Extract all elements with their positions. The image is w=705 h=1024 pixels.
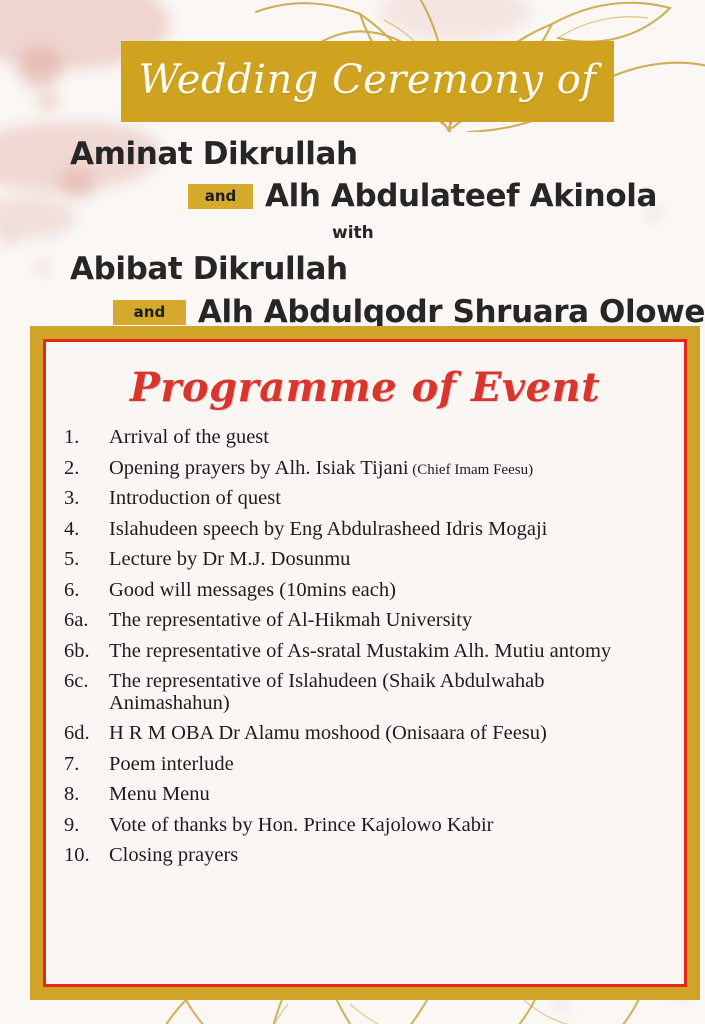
programme-title: Programme of Event: [64, 364, 666, 411]
bride-name-1: Aminat Dikrullah: [0, 134, 705, 174]
programme-item-number: 6d.: [64, 723, 109, 745]
programme-item-text: Arrival of the guest: [109, 427, 666, 449]
programme-item: 9.Vote of thanks by Hon. Prince Kajolowo…: [64, 815, 666, 837]
programme-item: 3.Introduction of quest: [64, 488, 666, 510]
banner-title: Wedding Ceremony of: [121, 41, 614, 122]
programme-item-number: 2.: [64, 458, 109, 480]
programme-item-text: Menu Menu: [109, 784, 666, 806]
couples-block: Aminat Dikrullah and Alh Abdulateef Akin…: [0, 134, 705, 334]
programme-item-text: The representative of Al-Hikmah Universi…: [109, 610, 666, 632]
programme-item-text: The representative of As-sratal Mustakim…: [109, 641, 666, 663]
programme-item-number: 9.: [64, 815, 109, 837]
programme-card: Programme of Event 1.Arrival of the gues…: [30, 326, 700, 1000]
programme-item-number: 4.: [64, 519, 109, 541]
programme-item: 4.Islahudeen speech by Eng Abdulrasheed …: [64, 519, 666, 541]
programme-item-number: 6.: [64, 580, 109, 602]
programme-item-number: 8.: [64, 784, 109, 806]
programme-item-text: Islahudeen speech by Eng Abdulrasheed Id…: [109, 519, 666, 541]
programme-item: 6c.The representative of Islahudeen (Sha…: [64, 671, 666, 714]
watercolor-blob: [556, 1000, 567, 1010]
programme-item: 6d.H R M OBA Dr Alamu moshood (Onisaara …: [64, 723, 666, 745]
programme-item-text: Vote of thanks by Hon. Prince Kajolowo K…: [109, 815, 666, 837]
watercolor-blob: [38, 92, 58, 110]
couple-row-1: and Alh Abdulateef Akinola: [0, 174, 705, 218]
and-chip-1: and: [188, 184, 253, 209]
programme-item: 8.Menu Menu: [64, 784, 666, 806]
programme-item-number: 6b.: [64, 641, 109, 663]
programme-item: 6a.The representative of Al-Hikmah Unive…: [64, 610, 666, 632]
programme-list: 1.Arrival of the guest2.Opening prayers …: [64, 427, 666, 867]
and-chip-2: and: [113, 300, 186, 325]
programme-item: 7.Poem interlude: [64, 754, 666, 776]
programme-item-note: (Chief Imam Feesu): [409, 462, 534, 478]
programme-item-number: 10.: [64, 845, 109, 867]
programme-card-inner: Programme of Event 1.Arrival of the gues…: [43, 339, 687, 987]
programme-item-text: Introduction of quest: [109, 488, 666, 510]
header-banner: Wedding Ceremony of: [121, 41, 614, 122]
groom-name-1: Alh Abdulateef Akinola: [265, 178, 657, 214]
programme-item: 2.Opening prayers by Alh. Isiak Tijani (…: [64, 458, 666, 480]
groom-name-2: Alh Abdulqodr Shruara Olowe: [198, 294, 705, 330]
programme-item-text: Poem interlude: [109, 754, 666, 776]
with-label: with: [0, 218, 705, 248]
programme-item-number: 7.: [64, 754, 109, 776]
programme-item-text: Closing prayers: [109, 845, 666, 867]
programme-item-number: 5.: [64, 549, 109, 571]
programme-item-number: 6c.: [64, 671, 109, 693]
programme-item-text: Lecture by Dr M.J. Dosunmu: [109, 549, 666, 571]
programme-item: 6.Good will messages (10mins each): [64, 580, 666, 602]
watercolor-blob: [380, 0, 530, 40]
programme-item: 6b.The representative of As-sratal Musta…: [64, 641, 666, 663]
programme-item-text: Opening prayers by Alh. Isiak Tijani (Ch…: [109, 458, 666, 480]
watercolor-blob: [18, 48, 62, 88]
programme-item-text: The representative of Islahudeen (Shaik …: [109, 671, 666, 714]
programme-item-number: 3.: [64, 488, 109, 510]
programme-item-number: 1.: [64, 427, 109, 449]
bride-name-2: Abibat Dikrullah: [0, 248, 705, 290]
programme-item: 5.Lecture by Dr M.J. Dosunmu: [64, 549, 666, 571]
programme-item-text: H R M OBA Dr Alamu moshood (Onisaara of …: [109, 723, 666, 745]
programme-item: 1.Arrival of the guest: [64, 427, 666, 449]
programme-item-text: Good will messages (10mins each): [109, 580, 666, 602]
programme-item: 10.Closing prayers: [64, 845, 666, 867]
wedding-invitation: Wedding Ceremony of Aminat Dikrullah and…: [0, 0, 705, 1024]
programme-item-number: 6a.: [64, 610, 109, 632]
